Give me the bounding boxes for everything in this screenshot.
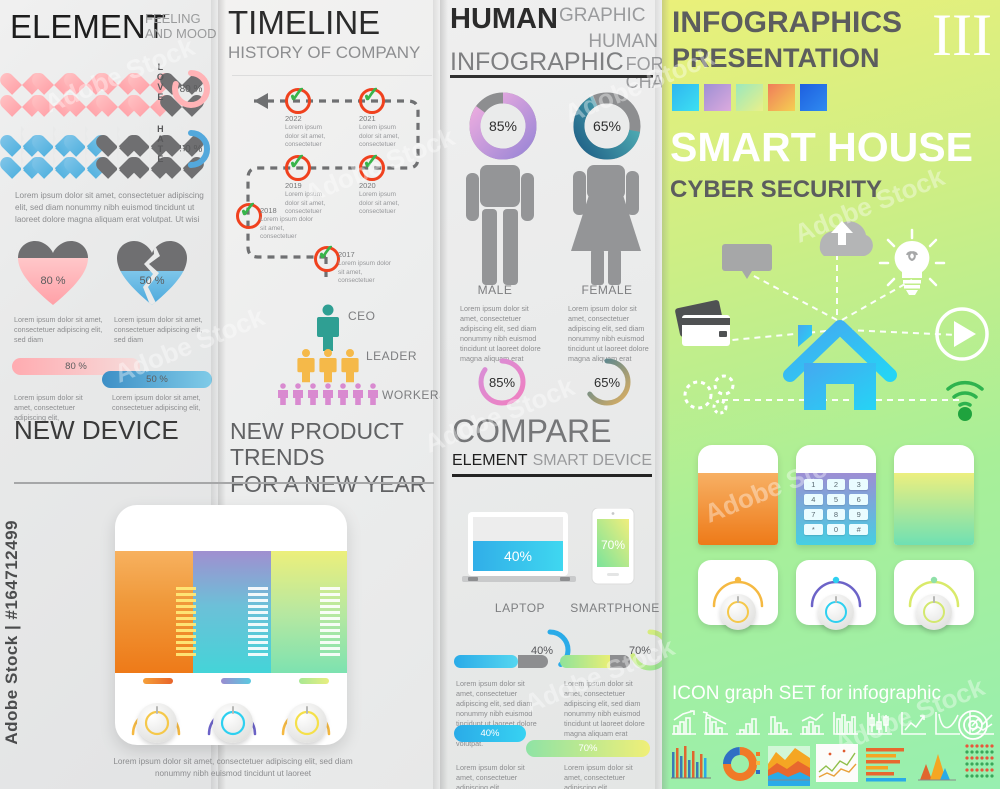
wifi-icon bbox=[948, 383, 982, 405]
device-card-green[interactable] bbox=[894, 445, 974, 545]
human-divider bbox=[450, 75, 653, 78]
compare-left-label: ELEMENT bbox=[452, 452, 528, 470]
keypad-key-star[interactable]: * bbox=[804, 524, 823, 535]
swatch-blue bbox=[800, 84, 827, 111]
human-title-bold: HUMAN bbox=[450, 6, 558, 34]
timeline-label-2022: 2022 Lorem ipsum dolor sit amet, consect… bbox=[285, 114, 337, 150]
device-knob-cyan[interactable] bbox=[213, 703, 253, 743]
female-ring-chart: 65% bbox=[580, 355, 634, 414]
male-ring-chart: 85% bbox=[475, 355, 529, 414]
gears-icon bbox=[685, 376, 733, 413]
keypad-key-8[interactable]: 8 bbox=[827, 509, 846, 520]
year-label: 2021 bbox=[359, 114, 376, 123]
smartphone-icon: 70% bbox=[590, 508, 636, 588]
hate-ring-value: 50 % bbox=[170, 128, 212, 170]
knob-card-orange[interactable] bbox=[698, 560, 778, 625]
laptop-label: LAPTOP bbox=[462, 601, 578, 615]
human-title-bold-2: INFOGRAPHIC bbox=[450, 50, 624, 75]
laptop-bar-track bbox=[518, 655, 548, 668]
female-figure-icon bbox=[565, 165, 655, 290]
timeline-label-2018: 2018 Lorem ipsum dolor sit amet, consect… bbox=[260, 206, 316, 242]
smart-house-title: SMART HOUSE bbox=[670, 127, 973, 168]
year-label: 2019 bbox=[285, 181, 302, 190]
laptop-bottom-bar: 40% bbox=[454, 725, 526, 742]
device-card-orange[interactable] bbox=[698, 445, 778, 545]
new-device-caption: Lorem ipsum dolor sit amet, consectetuer… bbox=[103, 756, 363, 780]
panel-smart-house: INFOGRAPHICS PRESENTATION III SMART HOUS… bbox=[662, 0, 1000, 789]
bar-arrow-icon bbox=[800, 714, 824, 734]
timeline-node-2017[interactable]: ✓ bbox=[314, 246, 340, 272]
color-swatches bbox=[672, 84, 827, 111]
male-ring-value: 85% bbox=[489, 375, 515, 390]
check-icon: ✓ bbox=[362, 151, 380, 173]
knob-card-blue[interactable] bbox=[796, 560, 876, 625]
compare-right-label: SMART DEVICE bbox=[533, 452, 652, 470]
laptop-ring-chart: 40% bbox=[526, 626, 574, 679]
year-label: 2018 bbox=[260, 206, 277, 215]
progress-bar-hate-value: 50 % bbox=[146, 374, 168, 385]
keypad[interactable]: 1 2 3 4 5 6 7 8 9 * 0 # bbox=[804, 479, 868, 535]
year-text: Lorem ipsum dolor sit amet, consectetuer bbox=[285, 124, 337, 150]
mini-donut-chart bbox=[727, 751, 760, 777]
mini-hbar-chart bbox=[866, 748, 906, 782]
smartphone-label: SMARTPHONE bbox=[568, 601, 662, 615]
laptop-value: 40% bbox=[504, 548, 532, 564]
section-divider-left bbox=[14, 482, 434, 484]
device-card-keypad[interactable]: 1 2 3 4 5 6 7 8 9 * 0 # bbox=[796, 445, 876, 545]
hate-hearts-row-1 bbox=[10, 124, 196, 148]
female-donut-value: 65% bbox=[593, 118, 621, 134]
title-line-1: NEW PRODUCT TRENDS bbox=[230, 418, 440, 471]
swatch-green bbox=[736, 84, 763, 111]
laptop-icon: 40% bbox=[462, 510, 578, 588]
love-label: LOVE bbox=[155, 62, 165, 102]
heart-gauge-right-value: 50 % bbox=[117, 275, 187, 287]
laptop-bottom-caption: Lorem ipsum dolor sit amet, consectetuer… bbox=[456, 763, 544, 789]
human-header: HUMAN GRAPHIC HUMAN INFOGRAPHIC FOR CHAR… bbox=[450, 6, 660, 91]
device-indicator-green bbox=[299, 678, 329, 684]
check-icon: ✓ bbox=[317, 242, 335, 264]
stock-watermark-side: Adobe Stock | #164712499 bbox=[2, 520, 26, 745]
progress-bar-hate: 50 % bbox=[102, 371, 212, 388]
heart-caption-right: Lorem ipsum dolor sit amet, consectetuer… bbox=[114, 315, 209, 345]
bar-descending-icon bbox=[768, 717, 792, 734]
year-text: Lorem ipsum dolor sit amet, consectetuer bbox=[359, 124, 411, 150]
knob-dial-green[interactable] bbox=[916, 594, 952, 630]
title-line-2: FOR A NEW YEAR bbox=[230, 471, 440, 497]
smartphone-description: Lorem ipsum dolor sit amet, consectetuer… bbox=[564, 679, 652, 750]
mini-bar-chart bbox=[671, 746, 711, 778]
smartphone-ring-value: 70% bbox=[629, 645, 651, 657]
monitor-icon bbox=[722, 244, 772, 279]
smartphone-bar-track bbox=[610, 655, 630, 668]
color-chart-icons bbox=[670, 742, 995, 786]
year-label: 2022 bbox=[285, 114, 302, 123]
device-level-meters bbox=[115, 551, 347, 673]
mini-area-chart bbox=[768, 746, 810, 786]
year-text: Lorem ipsum dolor sit amet, consectetuer bbox=[359, 191, 411, 217]
keypad-key-2[interactable]: 2 bbox=[827, 479, 846, 490]
mini-scatter-chart bbox=[816, 744, 858, 782]
laptop-bottom-bar-value: 40% bbox=[480, 728, 499, 739]
keypad-key-hash[interactable]: # bbox=[849, 524, 868, 535]
infographic-page: ELEMENT FEELING AND MOOD LOVE 80 % bbox=[0, 0, 1000, 789]
knob-card-green[interactable] bbox=[894, 560, 974, 625]
check-icon: ✓ bbox=[288, 84, 306, 106]
female-ring-value: 65% bbox=[594, 375, 620, 390]
timeline-node-2019[interactable]: ✓ bbox=[285, 155, 311, 181]
timeline-label-2017: 2017 Lorem ipsum dolor sit amet, consect… bbox=[338, 250, 396, 286]
year-label: 2020 bbox=[359, 181, 376, 190]
outline-chart-icons bbox=[670, 710, 995, 738]
new-device-title: NEW DEVICE bbox=[14, 415, 179, 446]
house-icon bbox=[790, 325, 890, 410]
presentation-title: PRESENTATION bbox=[672, 45, 880, 72]
love-ring-chart: 80 % bbox=[170, 68, 212, 110]
check-icon: ✓ bbox=[288, 151, 306, 173]
laptop-bar-fill bbox=[454, 655, 518, 668]
candlestick-icon bbox=[868, 712, 892, 734]
smart-house-network bbox=[662, 215, 1000, 430]
element-subtitle: FEELING AND MOOD bbox=[145, 12, 218, 42]
male-label: MALE bbox=[440, 283, 550, 297]
credit-card-icon bbox=[675, 300, 730, 346]
hierarchy-label-ceo: CEO bbox=[348, 309, 376, 323]
column-chart-icon bbox=[834, 712, 858, 734]
mini-dot-matrix bbox=[964, 742, 1000, 786]
male-donut-value: 85% bbox=[489, 118, 517, 134]
timeline-divider bbox=[232, 75, 432, 76]
swatch-cyan bbox=[672, 84, 699, 111]
heart-caption-left: Lorem ipsum dolor sit amet, consectetuer… bbox=[14, 315, 104, 345]
keypad-key-7[interactable]: 7 bbox=[804, 509, 823, 520]
worker-person-icons bbox=[278, 383, 378, 405]
page-title: ELEMENT bbox=[10, 8, 166, 46]
year-label: 2017 bbox=[338, 250, 355, 259]
mini-triangle-chart bbox=[918, 754, 956, 780]
device-knob-yellow[interactable] bbox=[287, 703, 327, 743]
timeline-node-2022[interactable]: ✓ bbox=[285, 88, 311, 114]
timeline-label-2020: 2020 Lorem ipsum dolor sit amet, consect… bbox=[359, 181, 411, 217]
smartphone-bottom-caption: Lorem ipsum dolor sit amet, consectetuer… bbox=[564, 763, 652, 789]
human-title-light-1: GRAPHIC bbox=[559, 6, 646, 25]
compare-title: COMPARE bbox=[452, 415, 611, 447]
year-text: Lorem ipsum dolor sit amet, consectetuer bbox=[338, 260, 396, 286]
knob-dial-orange[interactable] bbox=[720, 594, 756, 630]
cyber-security-title: CYBER SECURITY bbox=[670, 178, 882, 202]
smartphone-bottom-bar-value: 70% bbox=[578, 743, 597, 754]
male-figure-icon bbox=[462, 165, 547, 290]
roman-numeral: III bbox=[932, 5, 992, 65]
element-header: ELEMENT FEELING AND MOOD bbox=[10, 8, 166, 46]
smartphone-bar-fill bbox=[560, 655, 612, 668]
hate-ring-chart: 50 % bbox=[170, 128, 212, 170]
check-icon: ✓ bbox=[362, 84, 380, 106]
timeline-title: TIMELINE bbox=[228, 6, 420, 39]
keypad-key-6[interactable]: 6 bbox=[849, 494, 868, 505]
element-body-text: Lorem ipsum dolor sit amet, consectetuer… bbox=[15, 190, 211, 226]
knob-dial-blue[interactable] bbox=[818, 594, 854, 630]
year-text: Lorem ipsum dolor sit amet, consectetuer bbox=[260, 216, 316, 242]
timeline-node-2020[interactable]: ✓ bbox=[359, 155, 385, 181]
hierarchy-label-leader: LEADER bbox=[366, 349, 417, 363]
heart-gauge-left: 80 % bbox=[18, 241, 88, 307]
keypad-key-3[interactable]: 3 bbox=[849, 479, 868, 490]
keypad-key-4[interactable]: 4 bbox=[804, 494, 823, 505]
timeline-label-2021: 2021 Lorem ipsum dolor sit amet, consect… bbox=[359, 114, 411, 150]
play-button-icon bbox=[937, 309, 987, 359]
swatch-purple bbox=[704, 84, 731, 111]
love-ring-value: 80 % bbox=[170, 68, 212, 110]
timeline-node-2021[interactable]: ✓ bbox=[359, 88, 385, 114]
device-knob-orange[interactable] bbox=[137, 703, 177, 743]
heart-gauge-left-value: 80 % bbox=[18, 275, 88, 287]
swatch-orange bbox=[768, 84, 795, 111]
wifi-status-dot bbox=[958, 407, 972, 421]
male-donut-chart: 85% bbox=[467, 90, 539, 167]
timeline-header: TIMELINE HISTORY OF COMPANY bbox=[228, 6, 420, 63]
lightbulb-icon bbox=[880, 230, 944, 295]
target-rings-icon bbox=[950, 708, 996, 742]
hate-label: HATE bbox=[155, 124, 165, 164]
keypad-key-9[interactable]: 9 bbox=[849, 509, 868, 520]
female-label: FEMALE bbox=[552, 283, 662, 297]
new-product-trends-title: NEW PRODUCT TRENDS FOR A NEW YEAR bbox=[230, 418, 440, 497]
check-icon: ✓ bbox=[239, 199, 257, 221]
love-hearts-row-1 bbox=[10, 62, 196, 86]
keypad-key-0[interactable]: 0 bbox=[827, 524, 846, 535]
timeline-node-2018[interactable]: ✓ bbox=[236, 203, 262, 229]
hierarchy-label-workers: WORKERS bbox=[382, 388, 440, 402]
love-hearts-row-2 bbox=[10, 84, 196, 108]
smartphone-bottom-bar: 70% bbox=[526, 740, 650, 757]
female-donut-chart: 65% bbox=[571, 90, 643, 167]
bar-ascending-icon bbox=[736, 719, 760, 734]
progress-bar-love-value: 80 % bbox=[65, 361, 87, 372]
compare-divider bbox=[452, 474, 652, 477]
leader-person-icons bbox=[297, 349, 358, 382]
ceo-person-icon bbox=[317, 305, 339, 352]
bar-caption-right: Lorem ipsum dolor sit amet, consectetuer… bbox=[112, 393, 202, 413]
keypad-key-5[interactable]: 5 bbox=[827, 494, 846, 505]
bar-up-icon bbox=[672, 711, 696, 734]
timeline-subtitle: HISTORY OF COMPANY bbox=[228, 43, 420, 63]
hate-hearts-row-2 bbox=[10, 146, 196, 170]
device-indicator-orange bbox=[143, 678, 173, 684]
bar-down-icon bbox=[703, 712, 728, 734]
cloud-upload-icon bbox=[820, 221, 873, 256]
infographics-title: INFOGRAPHICS bbox=[672, 8, 902, 38]
icon-set-title: ICON graph SET for infographic bbox=[672, 683, 941, 705]
line-up-icon bbox=[902, 712, 926, 734]
heart-gauge-right: 50 % bbox=[117, 241, 187, 307]
device-indicator-purple bbox=[221, 678, 251, 684]
keypad-key-1[interactable]: 1 bbox=[804, 479, 823, 490]
new-device-panel[interactable] bbox=[115, 505, 347, 745]
panel-human: HUMAN GRAPHIC HUMAN INFOGRAPHIC FOR CHAR… bbox=[440, 0, 662, 789]
smartphone-value: 70% bbox=[601, 538, 625, 552]
